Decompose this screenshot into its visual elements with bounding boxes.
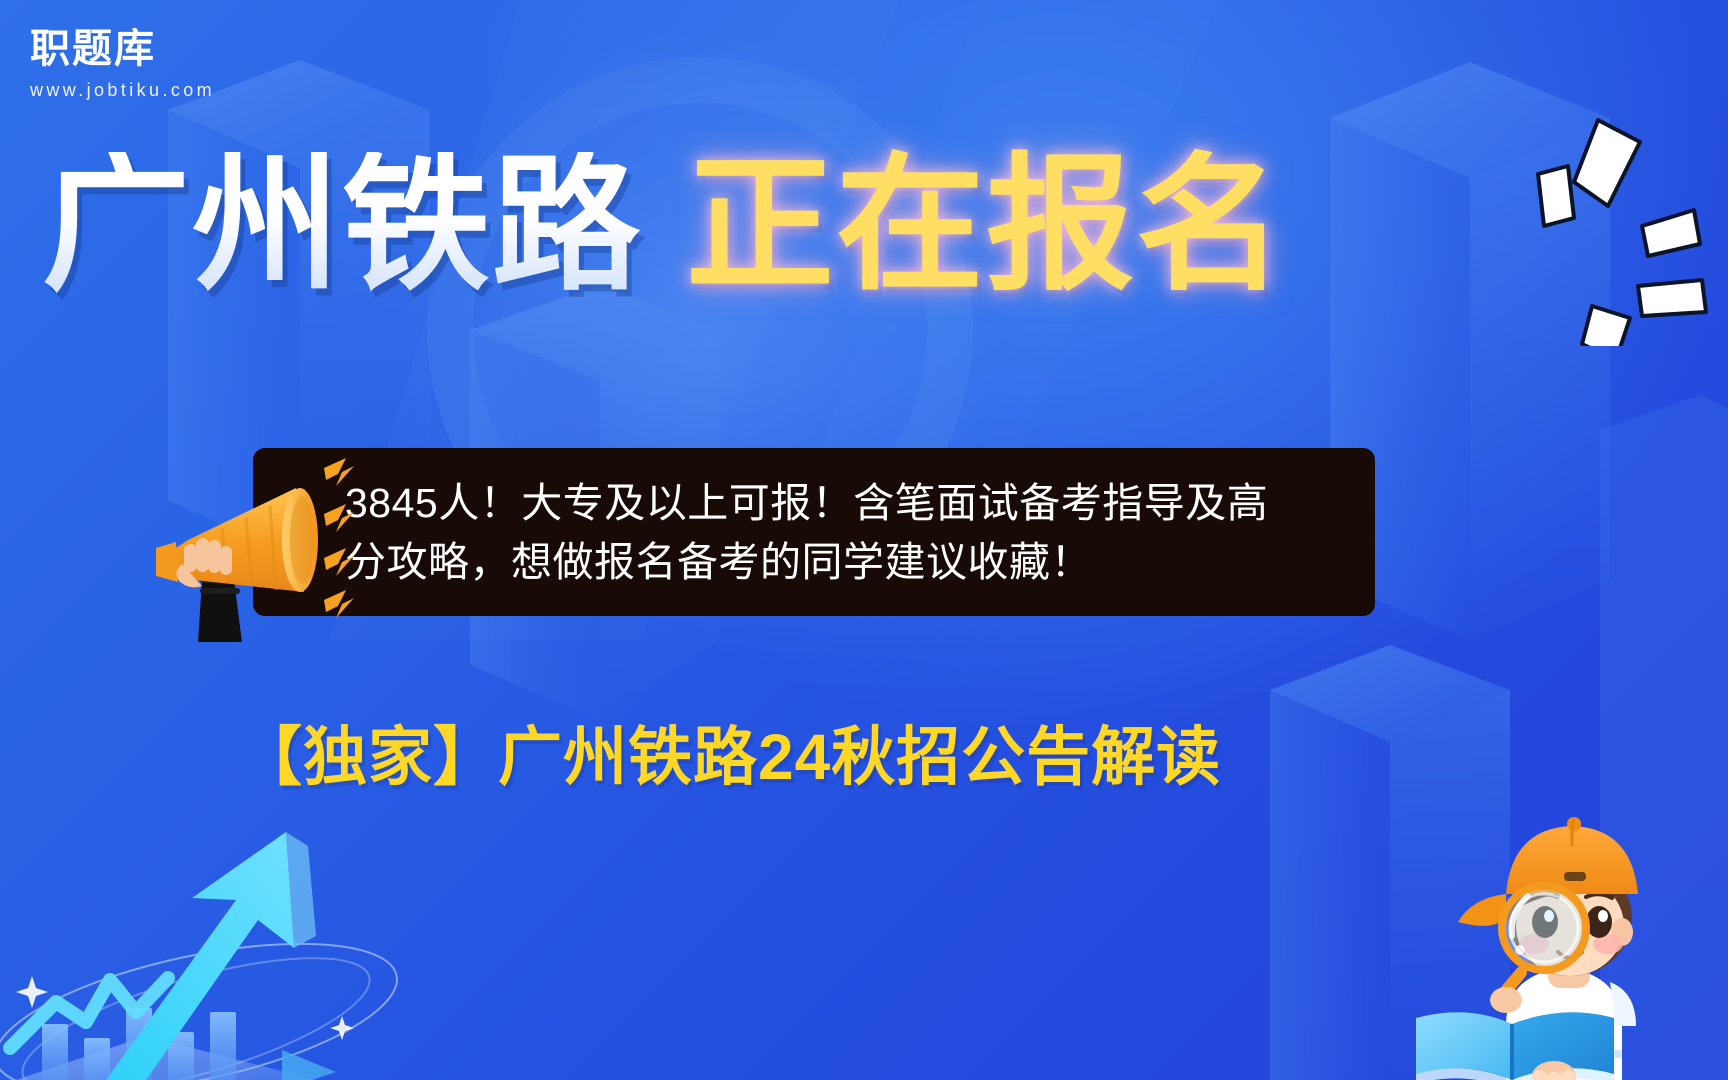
promo-banner: 职题库 www.jobtiku.com 广州铁路 正在报名 3845人！大专及以… [0,0,1728,1080]
burst-lines-icon [1490,96,1720,346]
boy-with-magnifier-icon [1388,786,1718,1080]
page-title: 广州铁路 正在报名 [42,152,1286,300]
notice-line-1: 3845人！大专及以上可报！含笔面试备考指导及高 [345,474,1347,533]
brand-url: www.jobtiku.com [30,80,215,101]
subtitle: 【独家】广州铁路24秋招公告解读 [238,706,1221,798]
brand-logo[interactable]: 职题库 www.jobtiku.com [30,28,215,101]
headline-primary: 广州铁路 [42,152,642,300]
brand-name: 职题库 [30,28,215,70]
headline-accent: 正在报名 [686,152,1286,300]
megaphone-icon [148,452,368,642]
growth-arrow-chart-icon [0,780,416,1080]
notice-box: 3845人！大专及以上可报！含笔面试备考指导及高 分攻略，想做报名备考的同学建议… [253,448,1375,616]
notice-line-2: 分攻略，想做报名备考的同学建议收藏！ [345,533,1347,592]
